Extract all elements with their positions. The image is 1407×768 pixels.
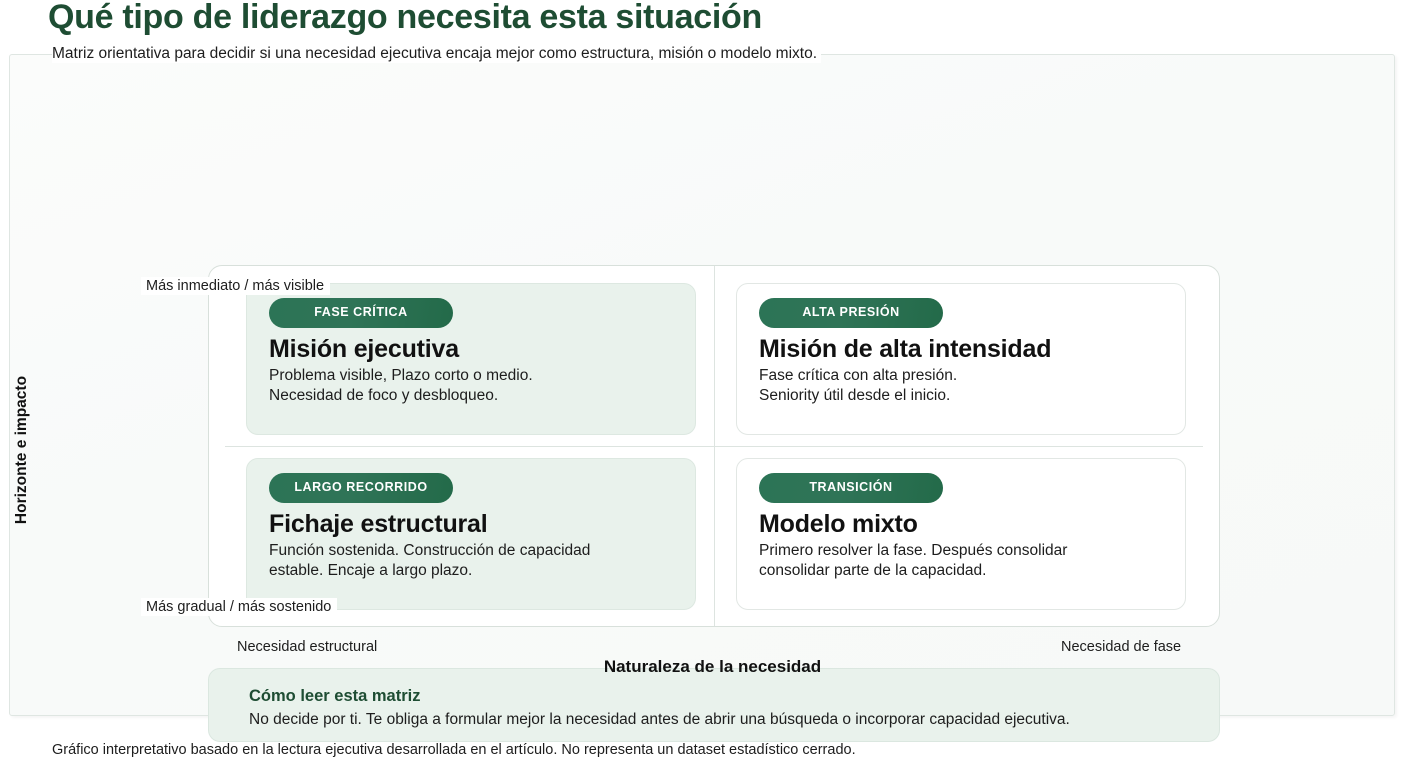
quadrant-title: Modelo mixto — [759, 511, 1163, 539]
x-axis-left-label: Necesidad estructural — [232, 638, 383, 656]
quadrant-title: Misión ejecutiva — [269, 336, 673, 364]
quadrant-card-top-right[interactable]: ALTA PRESIÓN Misión de alta intensidad F… — [736, 283, 1186, 435]
quadrant-card-bottom-right[interactable]: TRANSICIÓN Modelo mixto Primero resolver… — [736, 458, 1186, 610]
quadrant-tag-badge: LARGO RECORRIDO — [269, 473, 453, 503]
page-subtitle: Matriz orientativa para decidir si una n… — [52, 45, 821, 63]
figure-frame: Horizonte e impacto Naturaleza de la nec… — [9, 54, 1395, 716]
callout-title: Cómo leer esta matriz — [249, 687, 1219, 707]
page-title: Qué tipo de liderazgo necesita esta situ… — [48, 0, 762, 37]
quadrant-description: Problema visible, Plazo corto o medio. N… — [269, 366, 673, 406]
quadrant-card-bottom-left[interactable]: LARGO RECORRIDO Fichaje estructural Func… — [246, 458, 696, 610]
how-to-read-callout: Cómo leer esta matriz No decide por ti. … — [208, 668, 1220, 742]
x-axis-title: Naturaleza de la necesidad — [440, 657, 985, 677]
matrix-plot-area: FASE CRÍTICA Misión ejecutiva Problema v… — [208, 265, 1220, 627]
quadrant-description: Función sostenida. Construcción de capac… — [269, 541, 673, 581]
y-axis-bottom-label: Más gradual / más sostenido — [141, 598, 337, 616]
quadrant-title: Fichaje estructural — [269, 511, 673, 539]
callout-body: No decide por ti. Te obliga a formular m… — [249, 710, 1219, 729]
x-axis-right-label: Necesidad de fase — [1056, 638, 1187, 656]
quadrant-description: Fase crítica con alta presión. Seniority… — [759, 366, 1163, 406]
quadrant-tag-badge: ALTA PRESIÓN — [759, 298, 943, 328]
y-axis-top-label: Más inmediato / más visible — [141, 277, 330, 295]
quadrant-tag-badge: TRANSICIÓN — [759, 473, 943, 503]
quadrant-title: Misión de alta intensidad — [759, 336, 1163, 364]
quadrant-card-top-left[interactable]: FASE CRÍTICA Misión ejecutiva Problema v… — [246, 283, 696, 435]
y-axis-title: Horizonte e impacto — [10, 345, 34, 555]
quadrant-divider-horizontal — [225, 446, 1203, 447]
footer-note: Gráfico interpretativo basado en la lect… — [52, 742, 856, 758]
quadrant-tag-badge: FASE CRÍTICA — [269, 298, 453, 328]
quadrant-description: Primero resolver la fase. Después consol… — [759, 541, 1163, 581]
